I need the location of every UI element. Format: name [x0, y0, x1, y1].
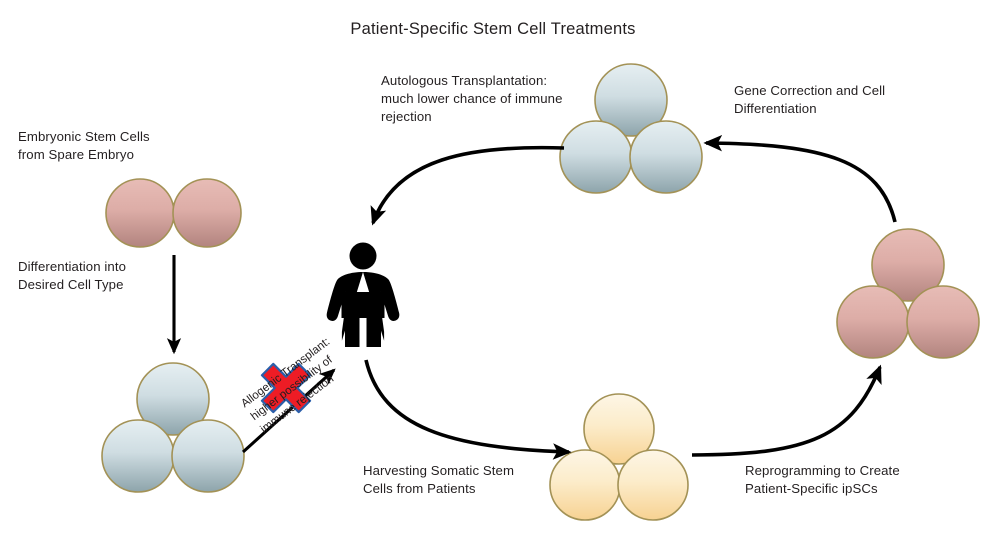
arrow-autologous-transplant [373, 148, 564, 223]
autologous-transplant-cell-cluster [560, 64, 702, 193]
arrow-gene-correction [706, 143, 895, 222]
differentiated-cell-cluster [102, 363, 244, 492]
label-harvesting-somatic: Harvesting Somatic Stem Cells from Patie… [363, 462, 514, 498]
ipsc-cell-cluster [837, 229, 979, 358]
label-differentiation: Differentiation into Desired Cell Type [18, 258, 126, 294]
label-autologous-transplantation: Autologous Transplantation: much lower c… [381, 72, 563, 126]
somatic-stem-cell-cluster [550, 394, 688, 520]
embryonic-stem-cell-pair [106, 179, 241, 247]
diagram-canvas: Patient-Specific Stem Cell Treatments [0, 0, 986, 540]
label-reprogramming: Reprogramming to Create Patient-Specific… [745, 462, 900, 498]
arrow-harvesting [366, 360, 569, 452]
label-gene-correction: Gene Correction and Cell Differentiation [734, 82, 885, 118]
arrow-reprogramming [692, 367, 880, 455]
label-embryonic-stem-cells: Embryonic Stem Cells from Spare Embryo [18, 128, 150, 164]
